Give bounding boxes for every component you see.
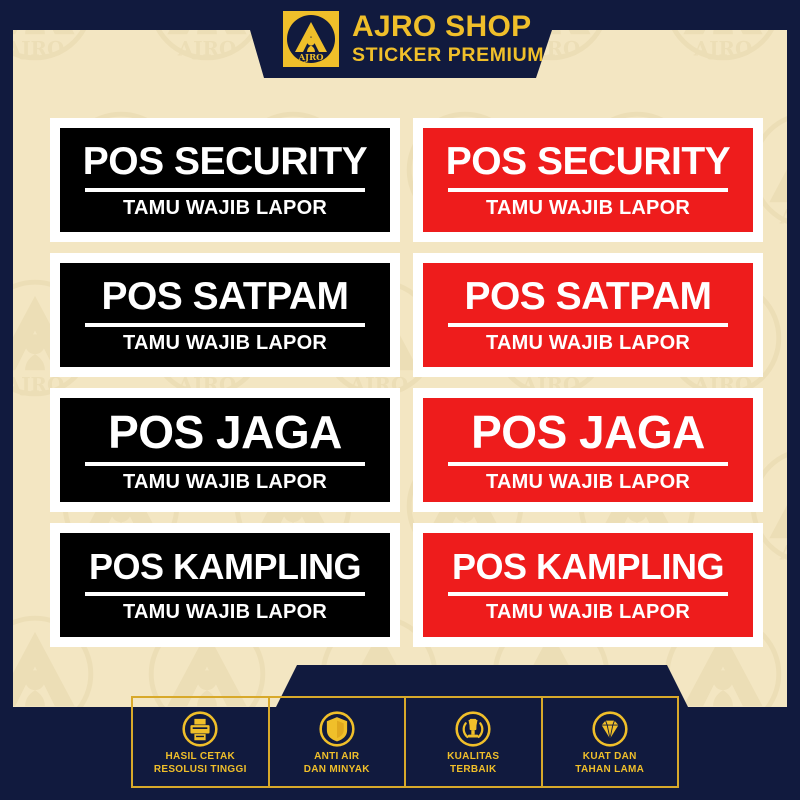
svg-text:AJRO: AJRO — [13, 36, 64, 60]
sticker-red-kampling[interactable]: POS KAMPLING TAMU WAJIB LAPOR — [413, 523, 763, 647]
sticker-inner: POS SECURITY TAMU WAJIB LAPOR — [57, 125, 393, 235]
sticker-title: POS JAGA — [108, 409, 342, 455]
sticker-inner: POS SATPAM TAMU WAJIB LAPOR — [420, 260, 756, 370]
feature-label-line1: ANTI AIR — [314, 751, 359, 762]
sticker-inner: POS SECURITY TAMU WAJIB LAPOR — [420, 125, 756, 235]
sticker-inner: POS KAMPLING TAMU WAJIB LAPOR — [57, 530, 393, 640]
feature-label-line1: KUALITAS — [447, 751, 499, 762]
feature-label-line1: KUAT DAN — [583, 751, 637, 762]
svg-text:AJRO: AJRO — [693, 36, 753, 60]
sticker-subtitle: TAMU WAJIB LAPOR — [486, 198, 690, 218]
sticker-divider — [448, 592, 728, 596]
sticker-title: POS KAMPLING — [452, 549, 724, 585]
sticker-title: POS SATPAM — [464, 277, 711, 316]
sticker-subtitle: TAMU WAJIB LAPOR — [123, 602, 327, 622]
printer-icon — [182, 711, 218, 747]
sticker-inner: POS JAGA TAMU WAJIB LAPOR — [57, 395, 393, 505]
sticker-divider — [448, 323, 728, 327]
sticker-subtitle: TAMU WAJIB LAPOR — [486, 333, 690, 353]
sticker-divider — [448, 188, 728, 192]
shield-icon — [319, 711, 355, 747]
sticker-divider — [448, 462, 728, 466]
sticker-title: POS SATPAM — [101, 277, 348, 316]
sticker-title: POS SECURITY — [446, 142, 730, 181]
feature-label-line2: RESOLUSI TINGGI — [154, 764, 247, 775]
brand-title: AJRO SHOP — [352, 12, 544, 42]
sticker-subtitle: TAMU WAJIB LAPOR — [123, 472, 327, 492]
sticker-grid: POS SECURITY TAMU WAJIB LAPOR POS SATPAM… — [0, 118, 800, 663]
sticker-black-jaga[interactable]: POS JAGA TAMU WAJIB LAPOR — [50, 388, 400, 512]
sticker-black-kampling[interactable]: POS KAMPLING TAMU WAJIB LAPOR — [50, 523, 400, 647]
feature-badge-best-quality[interactable]: KUALITAS TERBAIK — [406, 698, 543, 786]
ajro-logo-icon: AJRO — [283, 11, 339, 67]
sticker-subtitle: TAMU WAJIB LAPOR — [123, 198, 327, 218]
sticker-title: POS JAGA — [471, 409, 705, 455]
feature-label: ANTI AIR DAN MINYAK — [304, 751, 370, 776]
sticker-column-red: POS SECURITY TAMU WAJIB LAPOR POS SATPAM… — [413, 118, 763, 658]
feature-label-line2: TAHAN LAMA — [575, 764, 644, 775]
sticker-inner: POS KAMPLING TAMU WAJIB LAPOR — [420, 530, 756, 640]
sticker-red-security[interactable]: POS SECURITY TAMU WAJIB LAPOR — [413, 118, 763, 242]
product-image-canvas: AJRO AJRO AJRO AJRO AJRO — [0, 0, 800, 800]
sticker-divider — [85, 462, 365, 466]
feature-label: KUAT DAN TAHAN LAMA — [575, 751, 644, 776]
feature-badge-durable[interactable]: KUAT DAN TAHAN LAMA — [543, 698, 678, 786]
sticker-inner: POS SATPAM TAMU WAJIB LAPOR — [57, 260, 393, 370]
trophy-icon — [455, 711, 491, 747]
sticker-red-satpam[interactable]: POS SATPAM TAMU WAJIB LAPOR — [413, 253, 763, 377]
sticker-title: POS SECURITY — [83, 142, 367, 181]
feature-badge-print-resolution[interactable]: HASIL CETAK RESOLUSI TINGGI — [133, 698, 270, 786]
feature-label-line2: TERBAIK — [450, 764, 497, 775]
sticker-divider — [85, 188, 365, 192]
brand-text: AJRO SHOP STICKER PREMIUM — [352, 12, 544, 66]
sticker-inner: POS JAGA TAMU WAJIB LAPOR — [420, 395, 756, 505]
sticker-column-black: POS SECURITY TAMU WAJIB LAPOR POS SATPAM… — [50, 118, 400, 658]
feature-badge-waterproof[interactable]: ANTI AIR DAN MINYAK — [270, 698, 407, 786]
sticker-black-satpam[interactable]: POS SATPAM TAMU WAJIB LAPOR — [50, 253, 400, 377]
diamond-icon — [592, 711, 628, 747]
sticker-red-jaga[interactable]: POS JAGA TAMU WAJIB LAPOR — [413, 388, 763, 512]
svg-text:AJRO: AJRO — [297, 53, 324, 63]
brand-subtitle: STICKER PREMIUM — [352, 44, 544, 66]
svg-text:AJRO: AJRO — [177, 36, 237, 60]
sticker-black-security[interactable]: POS SECURITY TAMU WAJIB LAPOR — [50, 118, 400, 242]
sticker-divider — [85, 323, 365, 327]
sticker-title: POS KAMPLING — [89, 549, 361, 585]
feature-label-line2: DAN MINYAK — [304, 764, 370, 775]
sticker-subtitle: TAMU WAJIB LAPOR — [486, 472, 690, 492]
feature-label: KUALITAS TERBAIK — [447, 751, 499, 776]
brand-lockup: AJRO AJRO SHOP STICKER PREMIUM — [283, 8, 544, 70]
sticker-divider — [85, 592, 365, 596]
feature-label: HASIL CETAK RESOLUSI TINGGI — [154, 751, 247, 776]
feature-label-line1: HASIL CETAK — [165, 751, 235, 762]
sticker-subtitle: TAMU WAJIB LAPOR — [123, 333, 327, 353]
feature-badge-strip: HASIL CETAK RESOLUSI TINGGI ANTI AIR DAN… — [131, 696, 679, 788]
sticker-subtitle: TAMU WAJIB LAPOR — [486, 602, 690, 622]
